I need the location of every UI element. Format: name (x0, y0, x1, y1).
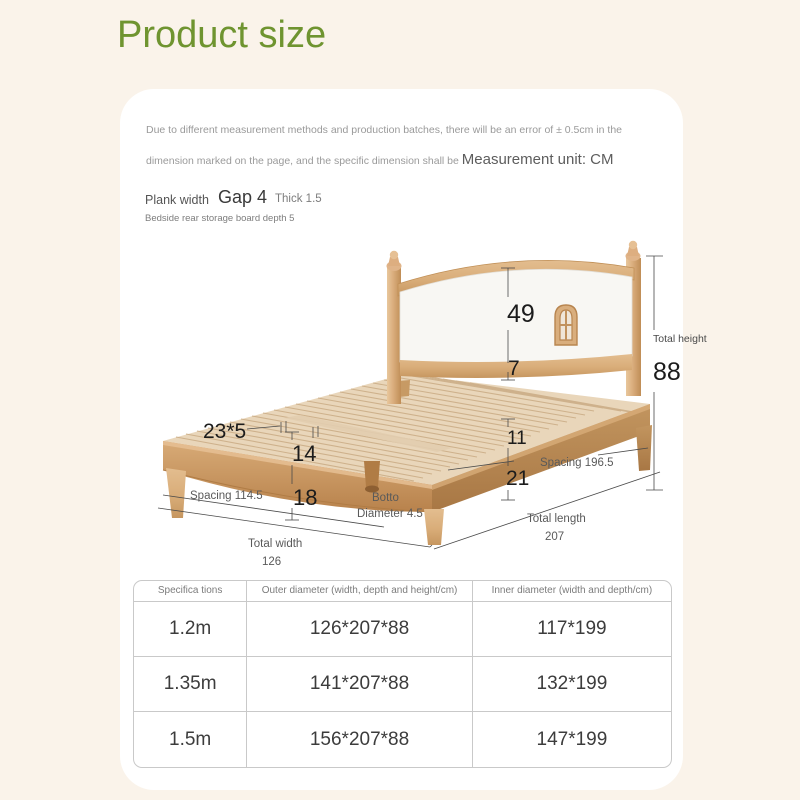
cell-inner: 117*199 (472, 602, 671, 657)
cell-outer: 126*207*88 (247, 602, 473, 657)
cell-spec: 1.5m (134, 712, 247, 767)
label-total-height: Total height (653, 333, 707, 345)
dimension-side-rail-height: 11 (507, 428, 527, 450)
header-outer-diameter: Outer diameter (width, depth and height/… (247, 581, 473, 602)
cell-spec: 1.35m (134, 657, 247, 712)
table-header-row: Specifica tions Outer diameter (width, d… (134, 581, 671, 602)
value-total-height: 88 (653, 358, 681, 387)
value-total-length: 207 (545, 531, 564, 543)
dimension-headboard-panel-height: 49 (507, 300, 535, 329)
table-row: 1.35m 141*207*88 132*199 (134, 657, 671, 712)
label-bottom-leg: Botto (372, 492, 399, 504)
header-inner-diameter: Inner diameter (width and depth/cm) (472, 581, 671, 602)
dimension-side-clearance: 21 (506, 467, 529, 491)
cell-inner: 147*199 (472, 712, 671, 767)
label-bottom-leg-diameter: Diameter 4.5 (357, 508, 423, 520)
cell-outer: 141*207*88 (247, 657, 473, 712)
dimension-leg-clearance: 18 (293, 485, 317, 511)
label-total-width: Total width (248, 538, 302, 550)
dimension-slat-size: 23*5 (203, 420, 246, 444)
cell-outer: 156*207*88 (247, 712, 473, 767)
dimension-headboard-bottom-rail: 7 (508, 357, 520, 381)
label-total-length: Total length (527, 513, 586, 525)
specification-table: Specifica tions Outer diameter (width, d… (133, 580, 672, 768)
label-spacing-width: Spacing 114.5 (190, 490, 263, 502)
cell-inner: 132*199 (472, 657, 671, 712)
cell-spec: 1.2m (134, 602, 247, 657)
header-specifications: Specifica tions (134, 581, 247, 602)
value-total-width: 126 (262, 556, 281, 568)
table-row: 1.2m 126*207*88 117*199 (134, 602, 671, 657)
label-spacing-length: Spacing 196.5 (540, 457, 614, 469)
table-body: 1.2m 126*207*88 117*199 1.35m 141*207*88… (134, 602, 671, 768)
table-row: 1.5m 156*207*88 147*199 (134, 712, 671, 767)
product-size-page: Product size Due to different measuremen… (0, 0, 800, 800)
dimension-frame-height: 14 (292, 441, 316, 467)
